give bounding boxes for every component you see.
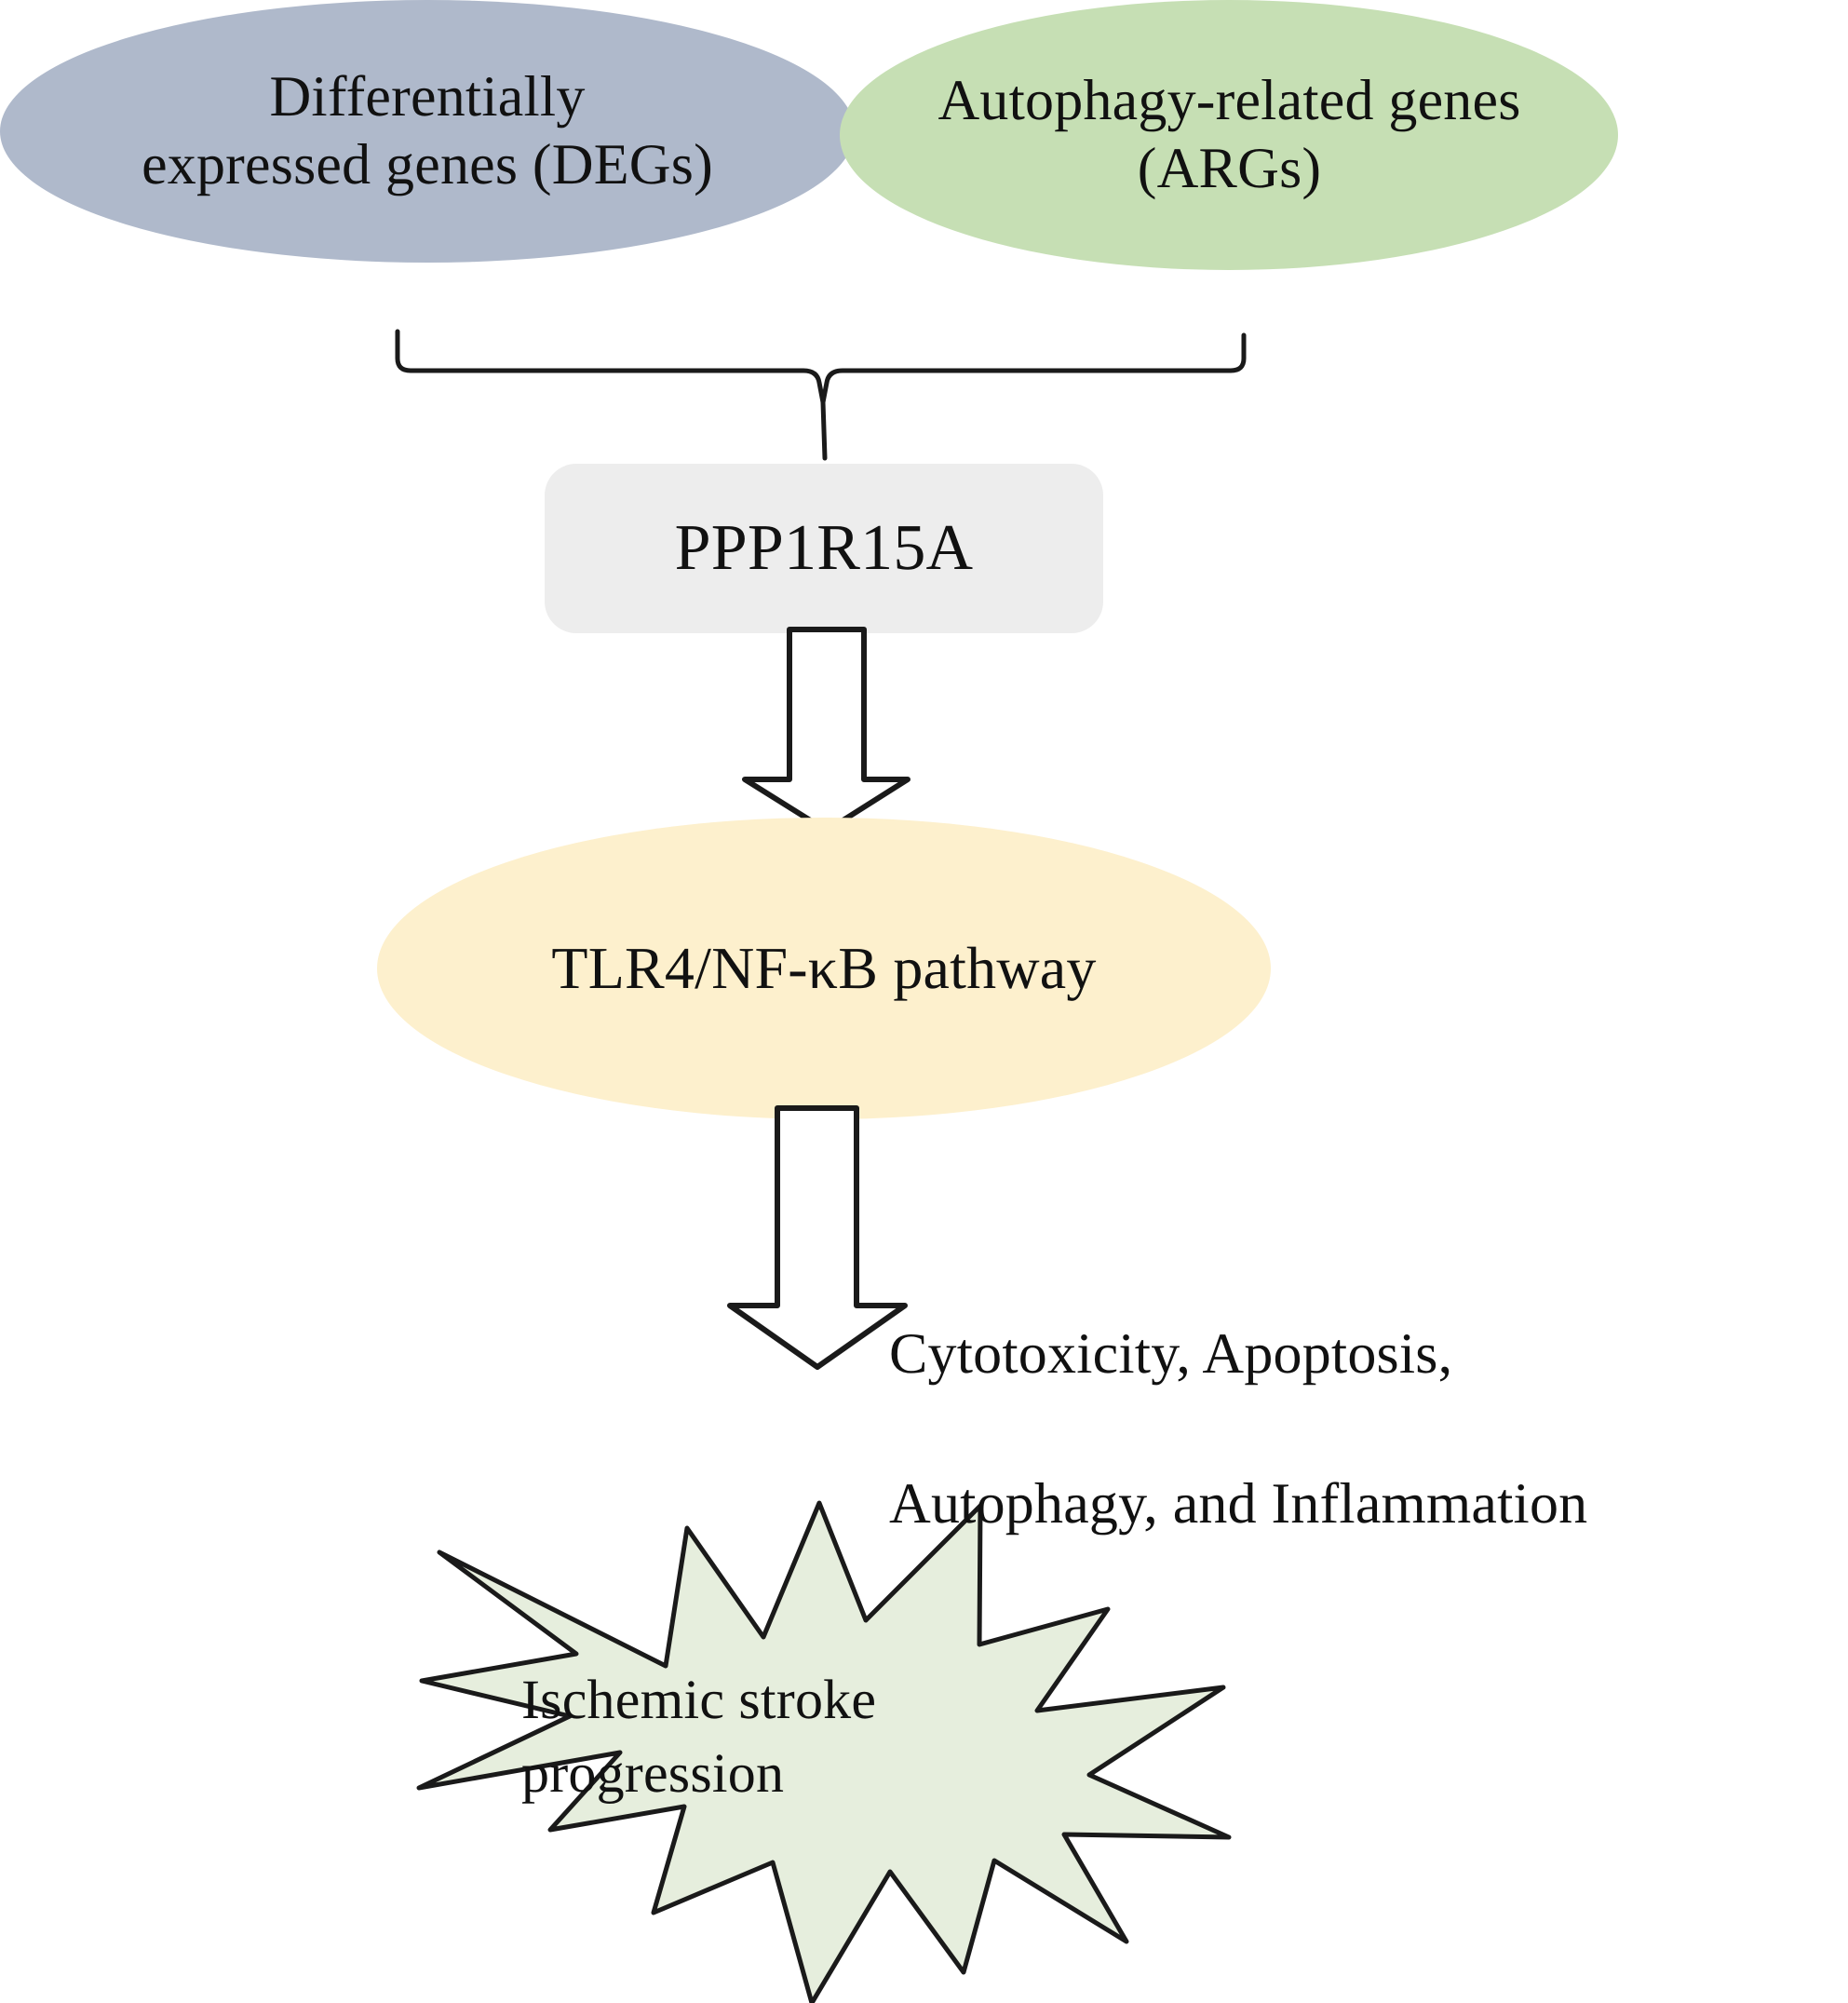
tlr4-pathway-ellipse xyxy=(377,818,1271,1119)
ppp1r15a-box xyxy=(545,464,1103,633)
figure-canvas: Differentially expressed genes (DEGs) Au… xyxy=(0,0,1848,2003)
brace-connector xyxy=(398,332,1244,458)
args-ellipse xyxy=(840,0,1618,270)
arrow-gene-to-pathway xyxy=(745,629,908,831)
arrow-pathway-to-outcome xyxy=(730,1108,905,1367)
ischemic-stroke-starburst xyxy=(419,1503,1229,2003)
degs-ellipse xyxy=(0,0,855,263)
diagram-svg xyxy=(0,0,1848,2003)
